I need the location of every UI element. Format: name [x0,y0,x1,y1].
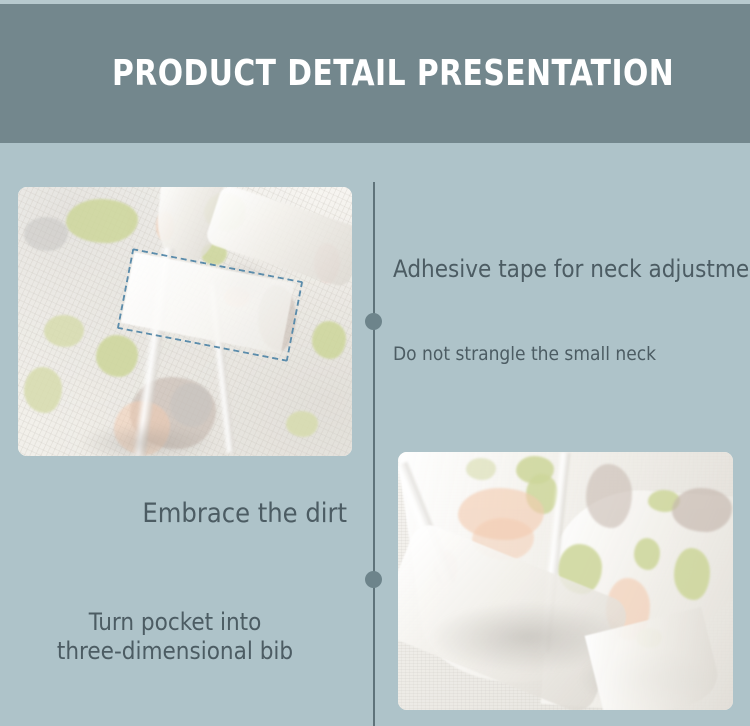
timeline-dot-upper [365,313,382,330]
callout-embrace-the-dirt: Embrace the dirt [0,498,347,531]
timeline-dot-lower [365,571,382,588]
print-motif [44,315,84,347]
cactus-motif [674,548,710,600]
fold-shadow [78,423,218,456]
print-motif [96,335,138,377]
print-motif [66,199,138,243]
print-motif [466,458,496,480]
page-title: PRODUCT DETAIL PRESENTATION [112,53,674,94]
callout-turn-pocket-line1: Turn pocket into [89,608,262,636]
timeline-divider [373,182,375,726]
print-motif [24,217,68,251]
monkey-motif [586,464,632,528]
callout-turn-pocket-line2: three-dimensional bib [57,637,293,665]
neck-photo-content [18,187,352,456]
header-band: PRODUCT DETAIL PRESENTATION [0,4,750,143]
print-motif [312,321,346,359]
turtle-motif [672,488,732,532]
pocket-photo-content [398,452,733,710]
animal-motif [170,383,212,427]
callout-do-not-strangle: Do not strangle the small neck [393,343,656,366]
print-motif [24,367,62,413]
print-motif [286,411,318,437]
print-motif [634,538,660,570]
presentation-page: PRODUCT DETAIL PRESENTATION [0,0,750,726]
pocket-fold-photo [398,452,733,710]
callout-adhesive-tape: Adhesive tape for neck adjustment [393,255,750,284]
callout-turn-pocket: Turn pocket into three-dimensional bib [0,608,350,667]
neck-adhesive-photo [18,187,352,456]
